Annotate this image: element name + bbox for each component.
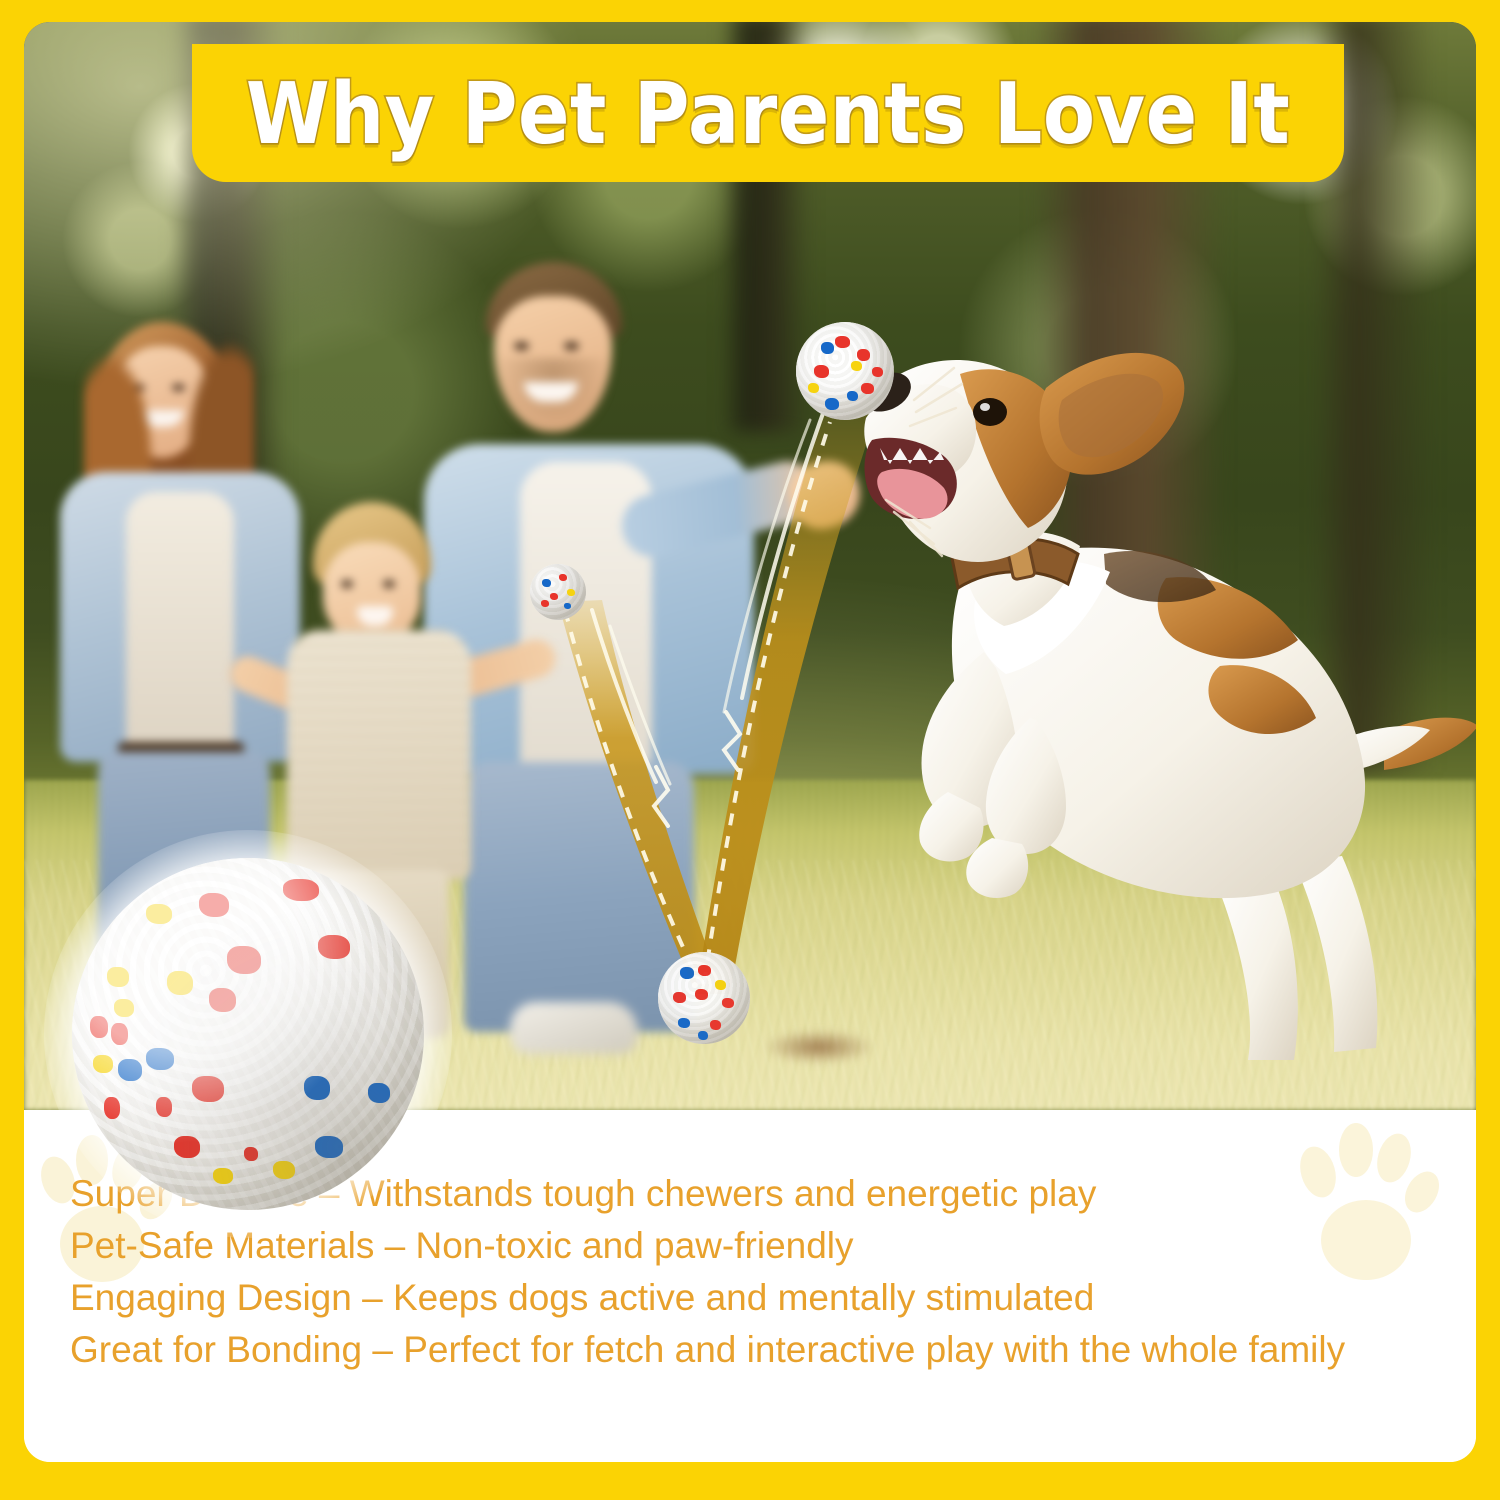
mother-top bbox=[126, 492, 234, 762]
poster-root: Why Pet Parents Love It bbox=[0, 0, 1500, 1500]
product-ball-body bbox=[72, 858, 424, 1210]
header-banner: Why Pet Parents Love It bbox=[192, 44, 1344, 182]
jumping-dog bbox=[864, 322, 1476, 1062]
ball-texture bbox=[530, 564, 586, 620]
page-title: Why Pet Parents Love It bbox=[246, 63, 1290, 163]
toy-ball-midair-top bbox=[796, 322, 894, 420]
child-eye bbox=[341, 580, 353, 588]
toy-ball-midair-left bbox=[530, 564, 586, 620]
dirt-patch bbox=[764, 1030, 874, 1064]
father-eye bbox=[564, 342, 579, 350]
child-eye bbox=[383, 580, 395, 588]
benefit-item: Great for Bonding – Perfect for fetch an… bbox=[70, 1324, 1422, 1376]
product-ball-shading bbox=[72, 858, 424, 1210]
child-face bbox=[323, 542, 421, 644]
product-hero-ball bbox=[62, 848, 434, 1220]
inner-white-card: Why Pet Parents Love It bbox=[24, 22, 1476, 1462]
father-eye bbox=[514, 342, 529, 350]
benefit-item: Engaging Design – Keeps dogs active and … bbox=[70, 1272, 1422, 1324]
toy-ball-on-ground bbox=[658, 952, 750, 1044]
